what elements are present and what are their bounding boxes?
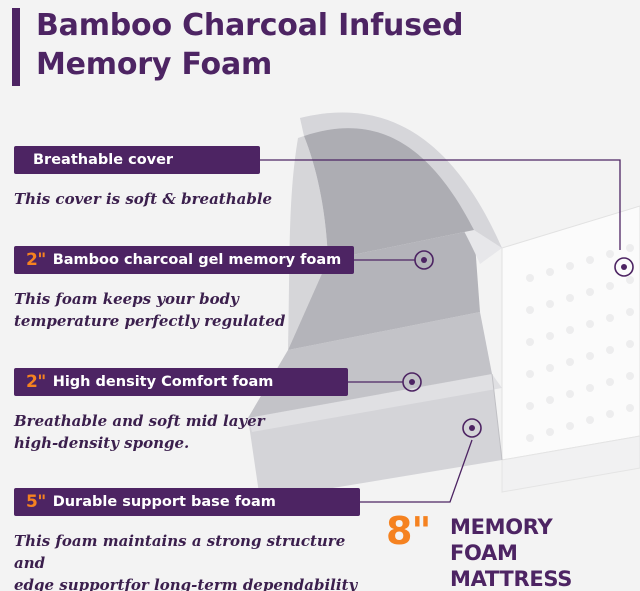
callout-label-text-comfort: High density Comfort foam (53, 374, 274, 390)
title-accent-bar (12, 8, 20, 86)
mattress-summary: 8" MEMORY FOAM MATTRESS (386, 512, 626, 576)
callout-description-comfort: Breathable and soft mid layer high-densi… (14, 410, 334, 454)
mattress-type-label: MEMORY FOAM MATTRESS (450, 514, 626, 591)
page-title: Bamboo Charcoal Infused Memory Foam (36, 6, 506, 84)
callout-label-text-bamboo: Bamboo charcoal gel memory foam (53, 252, 342, 268)
callout-size-bamboo: 2" (26, 250, 46, 270)
callout-description-cover: This cover is soft & breathable (14, 188, 314, 210)
callout-label-text-base: Durable support base foam (53, 494, 276, 510)
callout-size-base: 5" (26, 492, 46, 512)
callout-label-comfort[interactable]: 2" High density Comfort foam (14, 368, 348, 396)
callout-label-bamboo[interactable]: 2" Bamboo charcoal gel memory foam (14, 246, 354, 274)
callout-label-text-cover: Breathable cover (33, 152, 173, 168)
callout-label-base[interactable]: 5" Durable support base foam (14, 488, 360, 516)
callout-description-bamboo: This foam keeps your body temperature pe… (14, 288, 314, 332)
infographic-root: Bamboo Charcoal Infused Memory Foam (0, 0, 640, 591)
mattress-thickness: 8" (386, 512, 430, 550)
callout-size-comfort: 2" (26, 372, 46, 392)
callout-label-cover[interactable]: Breathable cover (14, 146, 260, 174)
callout-description-base: This foam maintains a strong structure a… (14, 530, 374, 591)
